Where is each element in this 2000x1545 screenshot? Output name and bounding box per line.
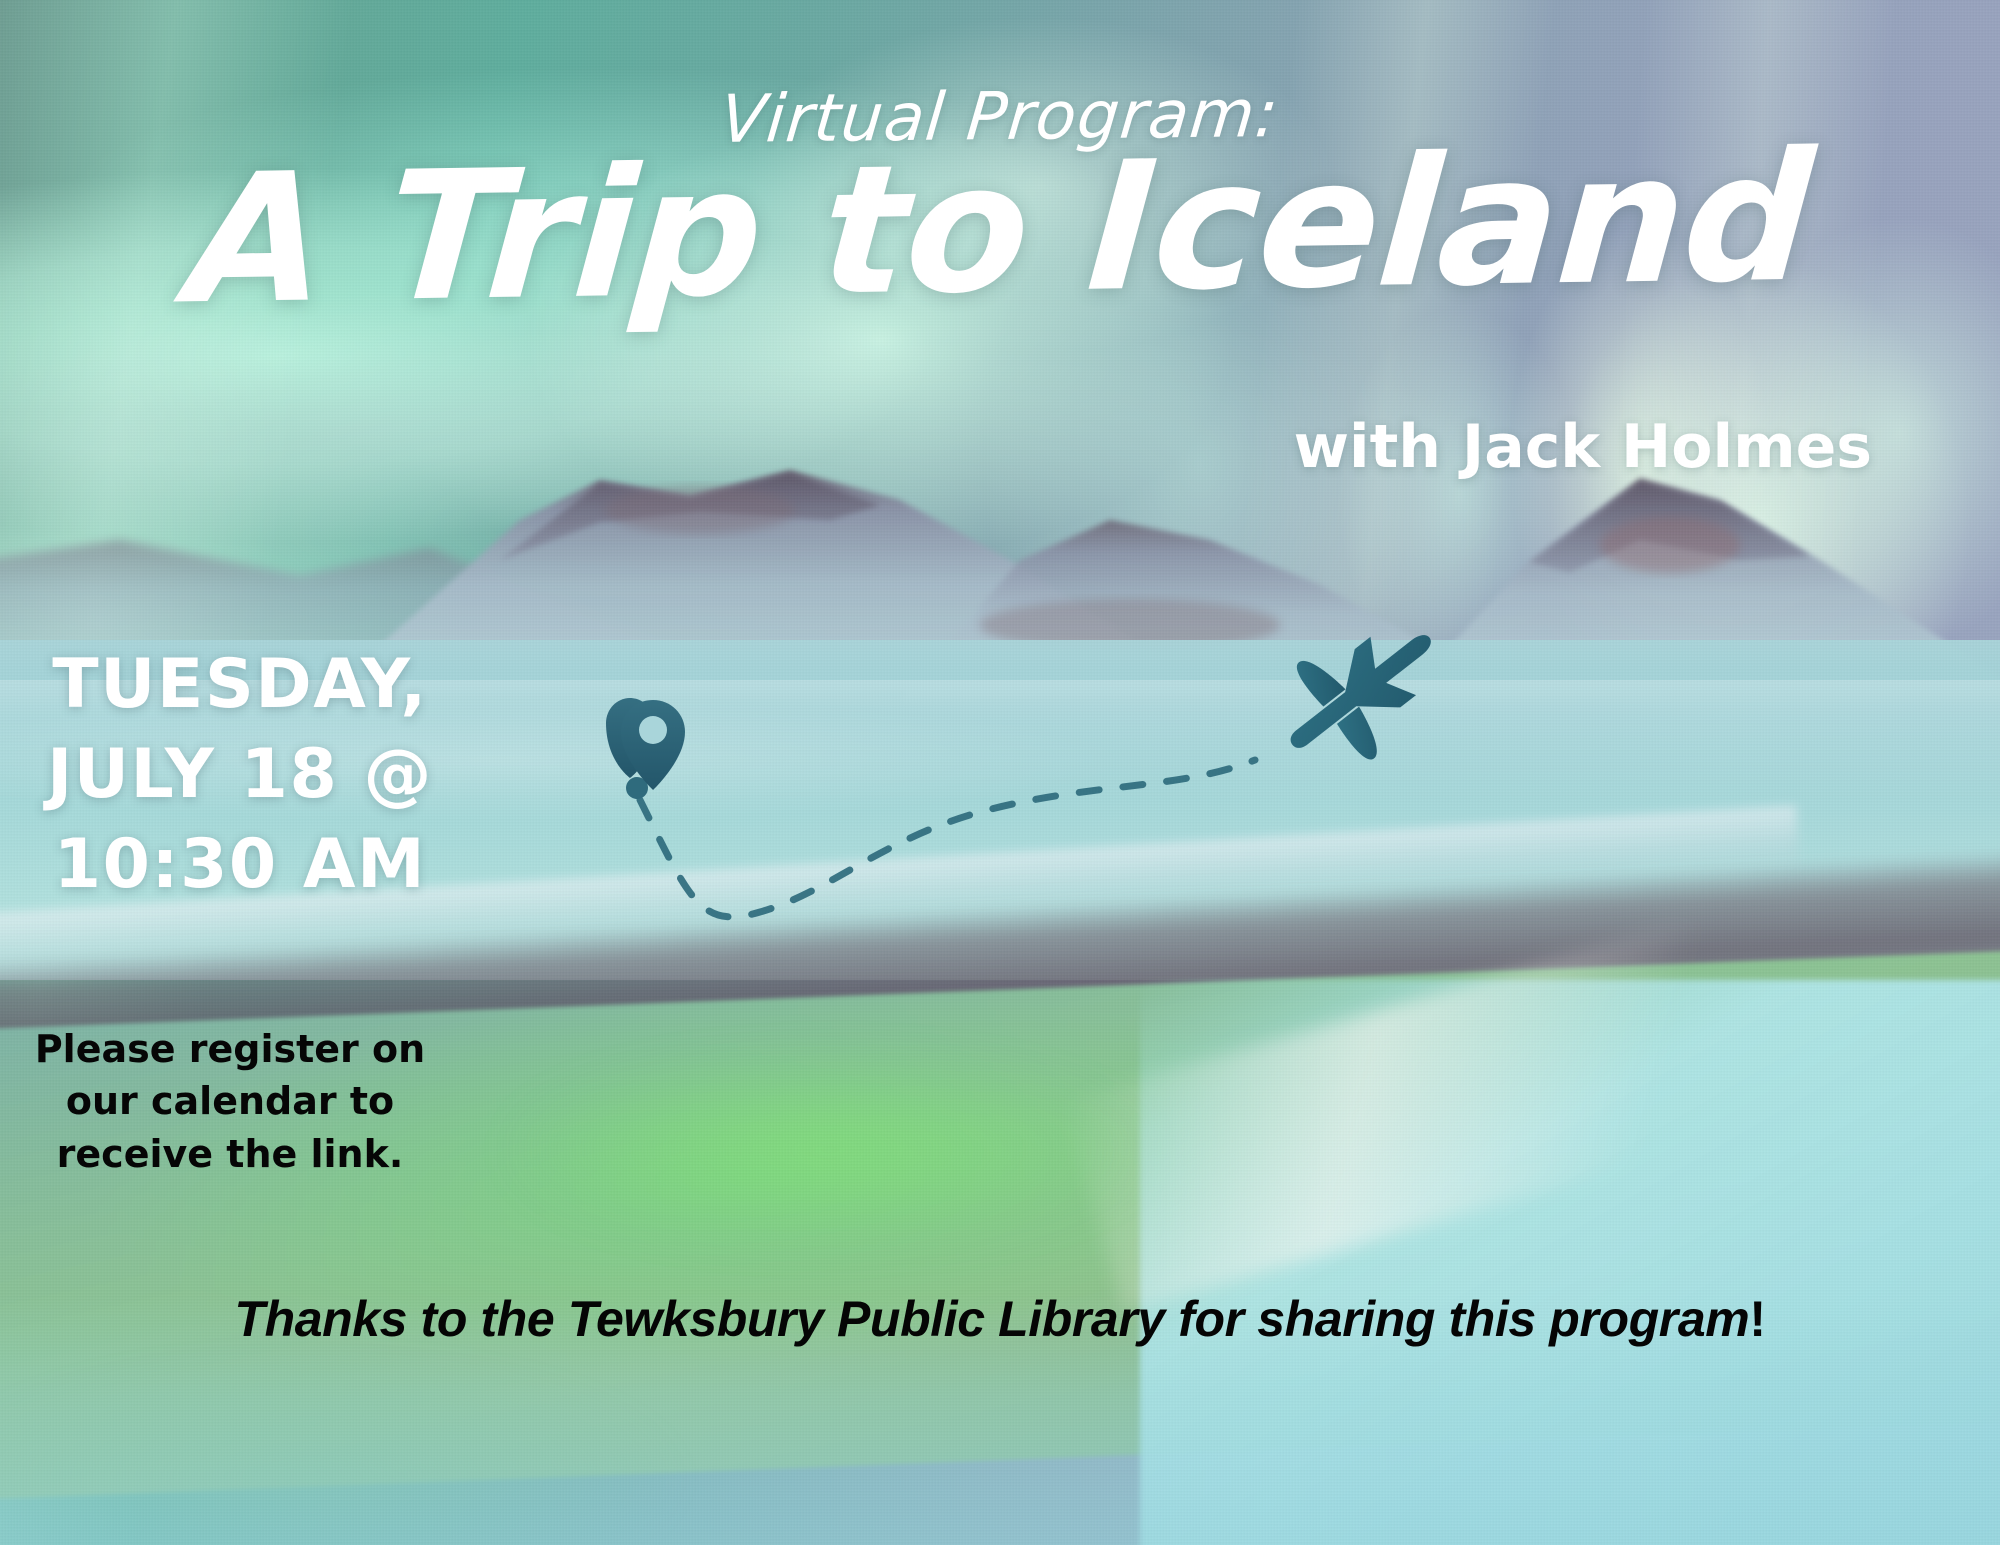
event-time: 10:30 AM xyxy=(30,820,450,910)
credit-line-text: Thanks to the Tewksbury Public Library f… xyxy=(234,1291,1749,1347)
credit-line-punctuation: ! xyxy=(1749,1291,1765,1347)
event-datetime: TUESDAY, JULY 18 @ 10:30 AM xyxy=(30,640,450,909)
page-title: A Trip to Iceland xyxy=(0,126,2000,332)
presenter-name: with Jack Holmes xyxy=(1294,412,1872,482)
event-date-day: TUESDAY, xyxy=(30,640,450,730)
registration-note-line-2: our calendar to xyxy=(30,1075,430,1127)
event-date-month: JULY 18 @ xyxy=(30,730,450,820)
credit-line: Thanks to the Tewksbury Public Library f… xyxy=(0,1290,2000,1348)
poster-canvas: Virtual Program: A Trip to Iceland with … xyxy=(0,0,2000,1545)
registration-note-line-3: receive the link. xyxy=(30,1128,430,1180)
registration-note-line-1: Please register on xyxy=(30,1023,430,1075)
registration-note: Please register on our calendar to recei… xyxy=(30,1023,430,1180)
poster-text-content: Virtual Program: A Trip to Iceland with … xyxy=(0,0,2000,1545)
